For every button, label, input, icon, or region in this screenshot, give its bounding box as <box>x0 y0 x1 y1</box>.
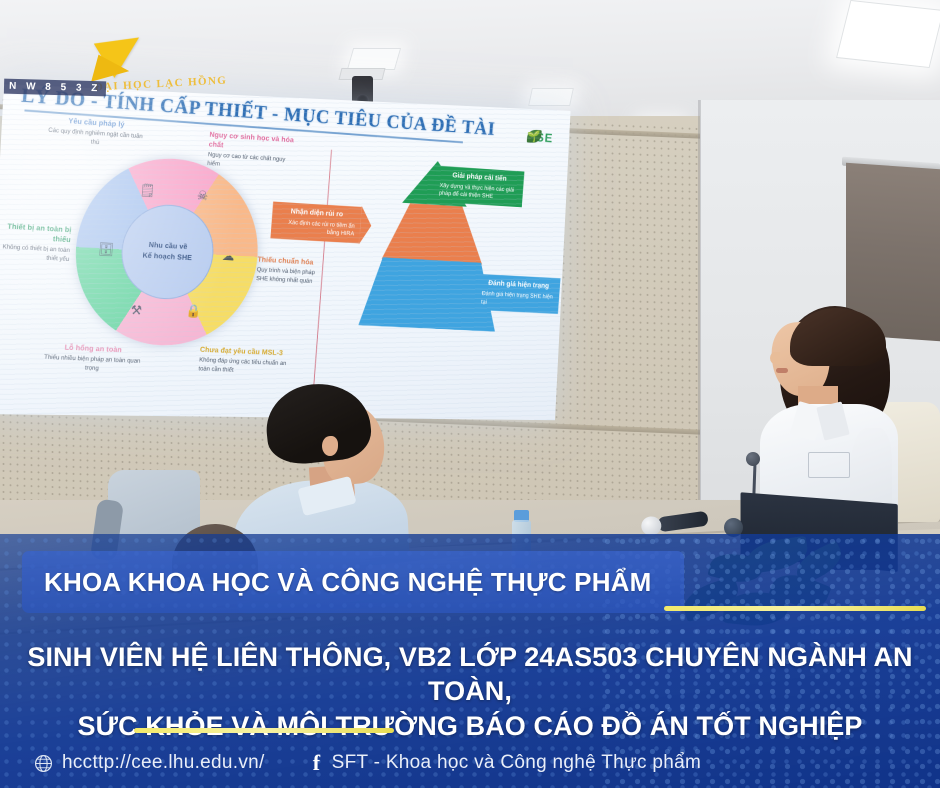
cloud-gas-icon: ☁ <box>219 248 237 264</box>
projected-slide: LÝ DO - TÍNH CẤP THIẾT - MỤC TIÊU CỦA ĐỀ… <box>0 84 571 420</box>
divider-line-top <box>664 606 926 611</box>
facebook-f-icon: f <box>311 753 323 773</box>
person-nose <box>770 352 780 364</box>
microphone-icon <box>746 452 760 466</box>
person-ear <box>322 436 338 456</box>
she-needs-wheel-diagram: Nhu cầu về Kế hoạch SHE 🗒 ☠ ☁ 🔒 ⚒ 🗄 <box>69 153 265 349</box>
divider-line-bottom <box>134 728 394 733</box>
poster-canvas: LÝ DO - TÍNH CẤP THIẾT - MỤC TIÊU CỦA ĐỀ… <box>0 0 940 788</box>
website-link[interactable]: hccttp://cee.lhu.edu.vn/ <box>34 752 265 774</box>
wheel-center-line2: Kế hoạch SHE <box>142 251 192 264</box>
ceiling-light-icon <box>347 48 401 70</box>
wheel-label-4: Lỗ hổng an toàn Thiếu nhiều biện pháp an… <box>40 342 145 375</box>
wheel-label-1: Nguy cơ sinh học và hóa chất Nguy cơ cao… <box>207 130 300 174</box>
pyramid-tier-middle <box>382 202 487 265</box>
hazard-skull-icon: ☠ <box>193 188 211 205</box>
wheel-label-5: Thiết bị an toàn bị thiếu Không có thiết… <box>0 221 72 264</box>
department-title: KHOA KHOA HỌC VÀ CÔNG NGHỆ THỰC PHẨM <box>22 567 652 598</box>
cabinet-icon: 🗄 <box>97 241 116 258</box>
wheel-label-2: Thiếu chuẩn hóa Quy trình và biện pháp S… <box>256 255 327 287</box>
camera-tag-label: N W 8 5 3 Z <box>4 79 106 97</box>
person-hair <box>262 379 374 467</box>
ceiling-light-icon <box>528 88 574 106</box>
leaf-icon: 🌱 <box>527 129 542 143</box>
shirt-pocket <box>808 452 850 478</box>
headline-line-1: SINH VIÊN HỆ LIÊN THÔNG, VB2 LỚP 24AS503… <box>10 640 930 709</box>
wheel-label-0: Yêu cầu pháp lý Các quy định nghiêm ngặt… <box>44 115 147 151</box>
facebook-page-name: SFT - Khoa học và Công nghệ Thực phẩm <box>332 752 702 774</box>
worker-icon: ⚒ <box>127 302 146 319</box>
wheel-label-3: Chưa đạt yêu cầu MSL-3 Không đáp ứng các… <box>198 345 290 377</box>
ceiling-light-panel-icon <box>836 0 940 68</box>
website-url: hccttp://cee.lhu.edu.vn/ <box>62 752 265 774</box>
footer-bar: hccttp://cee.lhu.edu.vn/ f SFT - Khoa họ… <box>34 752 914 774</box>
wall-corner <box>698 100 701 530</box>
person-mouth <box>776 368 788 373</box>
department-title-pill: KHOA KHOA HỌC VÀ CÔNG NGHỆ THỰC PHẨM <box>22 551 684 613</box>
lock-icon: 🔒 <box>185 303 203 319</box>
pyramid-callout-middle: Nhận diện rủi ro Xác định các rủi ro tiề… <box>270 201 372 245</box>
pyramid-callout-top: Giải pháp cải tiến Xây dựng và thực hiện… <box>422 164 524 208</box>
pyramid-callout-bottom: Đánh giá hiện trạng Đánh giá hiện trạng … <box>464 273 560 314</box>
hse-logo: 🌱HSE <box>527 129 554 145</box>
pyramid-diagram: Giải pháp cải tiến Xây dựng và thực hiện… <box>351 155 563 402</box>
headline-line-2: SỨC KHỎE VÀ MÔI TRƯỜNG BÁO CÁO ĐỒ ÁN TỐT… <box>10 709 930 743</box>
facebook-link[interactable]: f SFT - Khoa học và Công nghệ Thực phẩm <box>311 752 702 774</box>
heart-window-icon: 🗒 <box>138 182 156 199</box>
university-logo: ĐẠI HỌC LẠC HỒNG <box>58 21 262 111</box>
globe-icon <box>34 754 53 773</box>
